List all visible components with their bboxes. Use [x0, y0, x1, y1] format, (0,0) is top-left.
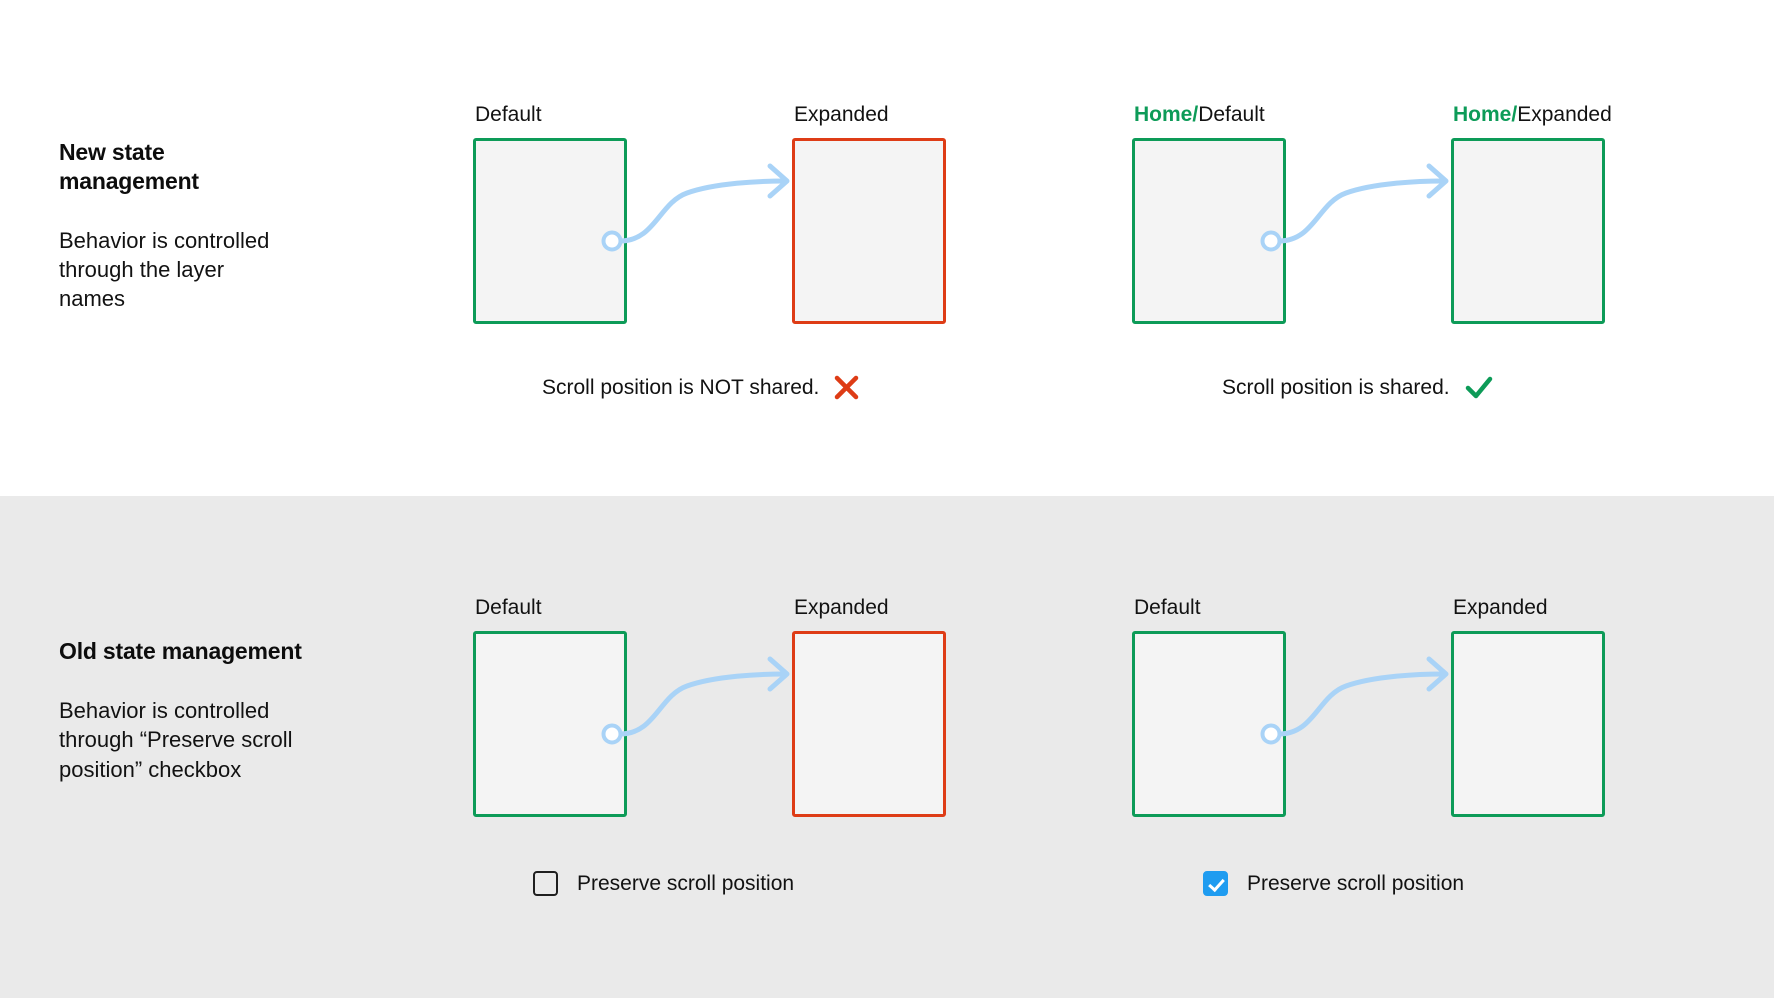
frame-label-name: Expanded: [1453, 596, 1548, 619]
frame-label-home-expanded: Home/Expanded: [1453, 103, 1612, 127]
checkbox-row-unchecked[interactable]: Preserve scroll position: [533, 871, 794, 896]
caption-shared: Scroll position is shared.: [1222, 374, 1494, 401]
frame-label-name: Expanded: [794, 103, 889, 126]
frame-label-home-default: Home/Default: [1134, 103, 1286, 127]
cross-icon: [833, 374, 860, 401]
frame-label-name: Expanded: [794, 596, 889, 619]
frame-default-3[interactable]: [473, 631, 627, 817]
checkbox-row-checked[interactable]: Preserve scroll position: [1203, 871, 1464, 896]
frame-label-page: Home: [1453, 103, 1511, 126]
old-state-body: Behavior is controlled through “Preserve…: [59, 696, 379, 783]
frame-label-name: Default: [1198, 103, 1265, 126]
frame-home-expanded[interactable]: [1451, 138, 1605, 324]
frame-group-default-1: Default: [473, 103, 627, 324]
section-new-state-management: New state management Behavior is control…: [0, 0, 1774, 496]
new-state-description-block: New state management Behavior is control…: [59, 138, 379, 313]
frame-group-expanded-4: Expanded: [1451, 596, 1605, 817]
preserve-scroll-checkbox-label: Preserve scroll position: [1247, 872, 1464, 896]
old-state-pair-1: Default Expanded: [459, 596, 1019, 826]
frame-group-home-default: Home/Default: [1132, 103, 1286, 324]
preserve-scroll-checkbox-label: Preserve scroll position: [577, 872, 794, 896]
new-state-title: New state management: [59, 138, 379, 197]
frame-expanded-1[interactable]: [792, 138, 946, 324]
caption-text: Scroll position is shared.: [1222, 376, 1450, 400]
new-state-pair-1: Default Expanded: [459, 103, 1019, 333]
frame-group-default-4: Default: [1132, 596, 1286, 817]
old-state-description-block: Old state management Behavior is control…: [59, 637, 379, 784]
frame-home-default[interactable]: [1132, 138, 1286, 324]
frame-label-default-3: Default: [475, 596, 627, 620]
new-state-pair-2: Home/Default Home/Expanded: [1118, 103, 1678, 333]
frame-group-expanded-1: Expanded: [792, 103, 946, 324]
frame-label-name: Default: [1134, 596, 1201, 619]
frame-expanded-3[interactable]: [792, 631, 946, 817]
frame-default-4[interactable]: [1132, 631, 1286, 817]
check-icon: [1464, 374, 1494, 401]
frame-expanded-4[interactable]: [1451, 631, 1605, 817]
frame-group-default-3: Default: [473, 596, 627, 817]
frame-group-home-expanded: Home/Expanded: [1451, 103, 1612, 324]
frame-label-name: Default: [475, 596, 542, 619]
frame-default-1[interactable]: [473, 138, 627, 324]
frame-label-default-1: Default: [475, 103, 627, 127]
frame-label-expanded-3: Expanded: [794, 596, 946, 620]
frame-label-name: Default: [475, 103, 542, 126]
preserve-scroll-checkbox-unchecked[interactable]: [533, 871, 558, 896]
frame-label-page: Home: [1134, 103, 1192, 126]
preserve-scroll-checkbox-checked[interactable]: [1203, 871, 1228, 896]
section-old-state-management: Old state management Behavior is control…: [0, 496, 1774, 998]
frame-label-expanded-1: Expanded: [794, 103, 946, 127]
frame-label-name: Expanded: [1517, 103, 1612, 126]
new-state-body: Behavior is controlled through the layer…: [59, 226, 379, 313]
frame-label-default-4: Default: [1134, 596, 1286, 620]
old-state-title: Old state management: [59, 637, 379, 666]
frame-label-expanded-4: Expanded: [1453, 596, 1605, 620]
caption-text: Scroll position is NOT shared.: [542, 376, 819, 400]
frame-group-expanded-3: Expanded: [792, 596, 946, 817]
old-state-pair-2: Default Expanded: [1118, 596, 1678, 826]
caption-not-shared: Scroll position is NOT shared.: [542, 374, 860, 401]
